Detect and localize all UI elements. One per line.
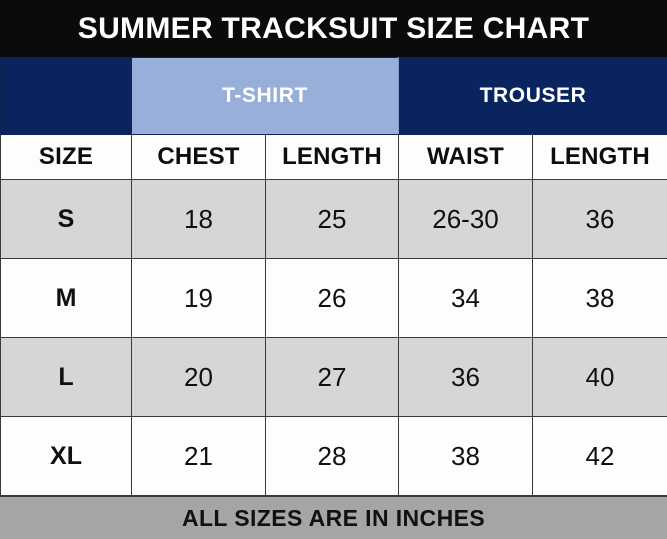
cell-chest: 18 (132, 180, 266, 259)
cell-size: S (1, 180, 132, 259)
cell-tshirt-length: 27 (266, 338, 399, 417)
group-header-row: T-SHIRT TROUSER (1, 58, 667, 135)
cell-chest: 21 (132, 417, 266, 496)
column-header-row: SIZE CHEST LENGTH WAIST LENGTH (1, 135, 667, 180)
cell-trouser-length: 42 (533, 417, 667, 496)
footer-note-text: ALL SIZES ARE IN INCHES (182, 505, 485, 532)
cell-waist: 26-30 (399, 180, 533, 259)
cell-size: M (1, 259, 132, 338)
cell-size: L (1, 338, 132, 417)
column-header-waist: WAIST (399, 135, 533, 180)
cell-tshirt-length: 28 (266, 417, 399, 496)
column-header-tshirt-length: LENGTH (266, 135, 399, 180)
footer-note-band: ALL SIZES ARE IN INCHES (0, 496, 667, 539)
cell-tshirt-length: 25 (266, 180, 399, 259)
page-title: SUMMER TRACKSUIT SIZE CHART (78, 14, 589, 44)
cell-size: XL (1, 417, 132, 496)
cell-tshirt-length: 26 (266, 259, 399, 338)
cell-trouser-length: 40 (533, 338, 667, 417)
column-header-trouser-length: LENGTH (533, 135, 667, 180)
cell-waist: 38 (399, 417, 533, 496)
column-header-size: SIZE (1, 135, 132, 180)
group-header-blank (1, 58, 132, 135)
size-chart-root: SUMMER TRACKSUIT SIZE CHART T-SHIRT TROU… (0, 0, 667, 539)
table-row: M 19 26 34 38 (1, 259, 667, 338)
table-row: L 20 27 36 40 (1, 338, 667, 417)
cell-chest: 19 (132, 259, 266, 338)
size-chart-table: T-SHIRT TROUSER SIZE CHEST LENGTH WAIST … (0, 57, 667, 496)
group-header-tshirt: T-SHIRT (132, 58, 399, 135)
group-header-trouser: TROUSER (399, 58, 667, 135)
cell-waist: 34 (399, 259, 533, 338)
column-header-chest: CHEST (132, 135, 266, 180)
cell-chest: 20 (132, 338, 266, 417)
table-row: XL 21 28 38 42 (1, 417, 667, 496)
cell-trouser-length: 36 (533, 180, 667, 259)
title-band: SUMMER TRACKSUIT SIZE CHART (0, 0, 667, 57)
cell-waist: 36 (399, 338, 533, 417)
cell-trouser-length: 38 (533, 259, 667, 338)
table-row: S 18 25 26-30 36 (1, 180, 667, 259)
